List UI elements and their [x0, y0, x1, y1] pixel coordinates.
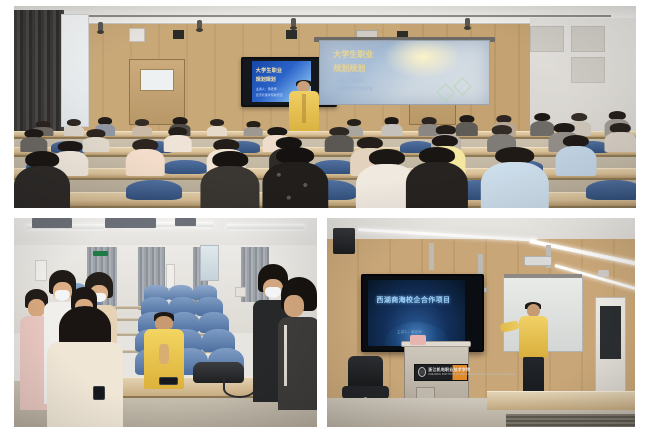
chair-backrest — [348, 356, 383, 389]
student-body — [555, 146, 596, 177]
student-foreground — [481, 147, 549, 208]
student-body — [126, 149, 165, 176]
student-foreground — [201, 151, 260, 208]
student-body — [207, 126, 227, 136]
acoustic-panel — [571, 57, 605, 83]
student — [605, 123, 636, 151]
student-foreground — [14, 151, 70, 208]
ceiling-spotlight — [291, 18, 296, 27]
photo-presenter-at-podium: 西湖商海校企合作项目 主讲人：黄老师 浙江机电职业技术学院 ZHEJIANG I… — [327, 218, 635, 427]
wall-box — [129, 28, 145, 42]
slide-decoration — [453, 77, 471, 95]
ceiling-projector — [524, 256, 552, 266]
slide-department: 经济管理学院教研室 — [256, 93, 283, 97]
student — [20, 129, 47, 151]
ceiling-spotlight — [465, 18, 470, 27]
student — [207, 119, 227, 135]
student-foreground — [406, 147, 468, 208]
doorway[interactable] — [595, 297, 626, 393]
projected-presenter: 主讲人：黄老师 — [337, 78, 365, 84]
student-body — [20, 137, 47, 152]
lecturer-yellow-jacket — [289, 91, 319, 133]
ceiling-vent — [32, 218, 71, 228]
slide-decoration — [436, 83, 454, 101]
presenter-yellow-jacket — [519, 316, 549, 358]
wall-speaker — [333, 228, 355, 253]
wall-outlet — [235, 287, 246, 297]
student-body — [64, 126, 84, 136]
slide-title: 西湖商海校企合作项目 — [376, 295, 450, 305]
exit-sign — [93, 251, 108, 256]
slide-presenter: 主讲人：黄老师 — [256, 87, 277, 91]
chair — [126, 180, 182, 200]
photo-lecture-hall-audience: 大学生职业 规划规划 主讲人：黄老师 经济管理学院教研室 大学生职业 规划规划 … — [14, 6, 636, 208]
projection-screen: 大学生职业 规划规划 主讲人：黄老师 经济管理学院教研室 — [319, 40, 490, 105]
student-body — [406, 162, 468, 208]
student-face — [284, 295, 304, 316]
student-body — [605, 132, 636, 152]
student-body — [14, 166, 70, 208]
student-body — [201, 166, 260, 208]
acoustic-panel — [530, 26, 564, 52]
student-face — [28, 299, 45, 317]
student — [132, 119, 152, 135]
presenter-head — [527, 304, 541, 318]
ceiling-hanger — [429, 243, 434, 270]
desk-shelf — [506, 414, 635, 427]
lecturer-standing — [289, 81, 319, 134]
projected-title-line2: 规划规划 — [333, 63, 365, 74]
bag-strap — [223, 379, 256, 398]
phone-on-desk — [159, 377, 177, 385]
projected-title-line1: 大学生职业 — [333, 49, 373, 60]
student-body — [163, 135, 192, 151]
classroom-door-left[interactable] — [129, 59, 185, 126]
wall-speaker — [286, 30, 297, 39]
slide-title-line2: 规划规划 — [256, 76, 276, 83]
student-body — [132, 126, 152, 136]
jacket-stripe — [284, 325, 287, 387]
chair — [586, 180, 636, 200]
phone-in-hand — [93, 386, 105, 401]
student-body — [381, 124, 402, 136]
cup-on-lectern — [410, 335, 425, 345]
student — [555, 135, 596, 175]
ceiling-vent — [105, 218, 157, 228]
student-body — [263, 162, 328, 208]
student-foreground-right — [278, 277, 317, 411]
acoustic-panel — [571, 26, 605, 52]
wall-sensor — [598, 270, 609, 276]
student-coat — [47, 342, 123, 427]
university-seal-logo — [418, 367, 426, 377]
slide-title-line1: 大学生职业 — [256, 67, 283, 74]
student-body — [244, 127, 263, 135]
door-window — [140, 69, 175, 91]
student — [163, 127, 192, 151]
student — [244, 121, 263, 135]
student — [64, 119, 84, 135]
projector-glare — [384, 40, 462, 79]
front-desk — [487, 391, 635, 410]
wall-speaker — [173, 30, 184, 39]
lectern-org-subtitle: ZHEJIANG INSTITUTE OF MECHANICAL & ELECT… — [428, 373, 515, 376]
student-body — [481, 162, 549, 208]
projected-department: 经济管理学院教研室 — [337, 86, 373, 92]
ceiling-spotlight — [98, 22, 103, 31]
ceiling-vent — [175, 218, 196, 226]
window — [200, 245, 218, 281]
window — [61, 14, 88, 127]
ceiling-rail — [39, 15, 611, 17]
ceiling-light — [226, 224, 305, 229]
lecturer-hands — [159, 344, 168, 364]
student-foreground — [263, 147, 328, 208]
photo-students-around-desk — [14, 218, 317, 427]
student-foreground-back — [47, 306, 123, 427]
photo-collage: 大学生职业 规划规划 主讲人：黄老师 经济管理学院教研室 大学生职业 规划规划 … — [0, 0, 650, 433]
ceiling-spotlight — [197, 20, 202, 29]
lectern-nameplate: 浙江机电职业技术学院 ZHEJIANG INSTITUTE OF MECHANI… — [414, 364, 468, 381]
student — [381, 117, 402, 135]
student — [126, 139, 165, 175]
